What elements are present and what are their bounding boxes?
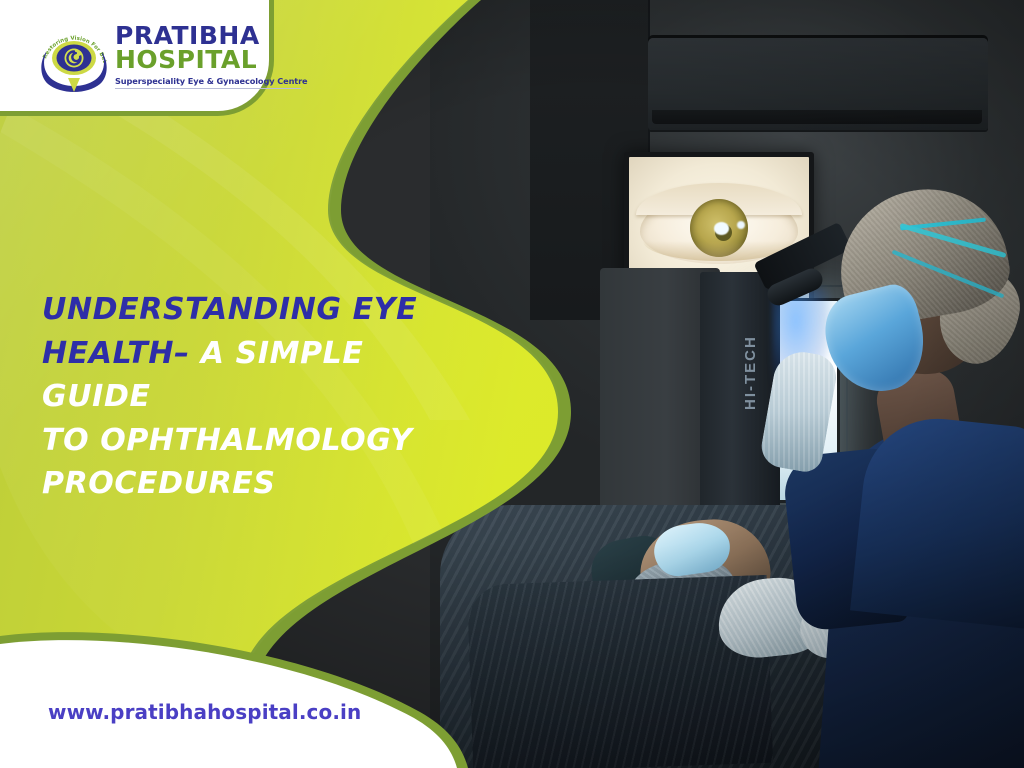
website-url[interactable]: www.pratibhahospital.co.in bbox=[48, 700, 361, 724]
eye-highlight-icon bbox=[714, 222, 729, 235]
page-title: UNDERSTANDING EYE HEALTH– A SIMPLE GUIDE… bbox=[42, 288, 472, 506]
headline-line3: TO OPHTHALMOLOGY bbox=[42, 423, 413, 458]
logo-tagline: Superspeciality Eye & Gynaecology Centre bbox=[115, 76, 308, 86]
logo-tagline-rule bbox=[115, 88, 301, 89]
eye-highlight-secondary-icon bbox=[737, 221, 745, 229]
equipment-label: HI-TECH bbox=[742, 288, 762, 410]
headline-line2-blue: HEALTH– bbox=[42, 336, 190, 371]
eye-in-hands-logo-icon: Restoring Vision For Better Health bbox=[40, 18, 108, 94]
headline-line4: PROCEDURES bbox=[42, 466, 276, 501]
air-conditioner-vent bbox=[652, 110, 982, 124]
logo-wordmark: PRATIBHA HOSPITAL Superspeciality Eye & … bbox=[115, 22, 308, 89]
logo-badge[interactable]: Restoring Vision For Better Health PRATI… bbox=[0, 0, 274, 116]
headline-line1: UNDERSTANDING EYE bbox=[42, 292, 417, 327]
logo-name-line2: HOSPITAL bbox=[115, 48, 308, 72]
